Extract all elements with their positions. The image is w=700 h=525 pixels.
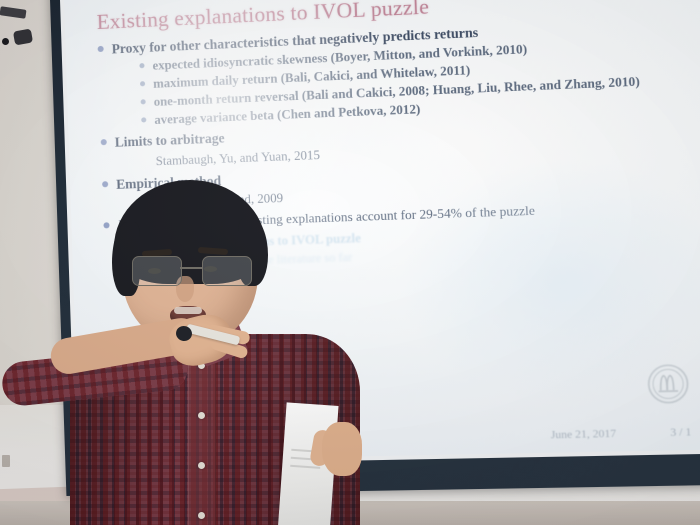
teeth	[174, 307, 202, 314]
bullet-proxy-characteristics: Proxy for other characteristics that neg…	[111, 15, 675, 131]
footer-date: June 21, 2017	[551, 428, 617, 442]
shirt-button	[198, 512, 205, 519]
presenter-right-hand	[322, 422, 362, 476]
university-seal-icon	[646, 363, 690, 406]
shirt-button	[198, 462, 205, 469]
presentation-photo: Existing explanations to IVOL puzzle Pro…	[0, 0, 700, 525]
shirt-placket	[188, 344, 216, 525]
glasses-icon	[132, 256, 252, 286]
wall-outlet-icon	[2, 455, 10, 467]
shirt-button	[198, 412, 205, 419]
footer-page-number: 3 / 1	[652, 426, 691, 439]
bullet-label: Limits to arbitrage	[115, 131, 225, 150]
presenter-figure	[60, 178, 360, 525]
screen-mount-bracket-icon	[0, 8, 34, 54]
